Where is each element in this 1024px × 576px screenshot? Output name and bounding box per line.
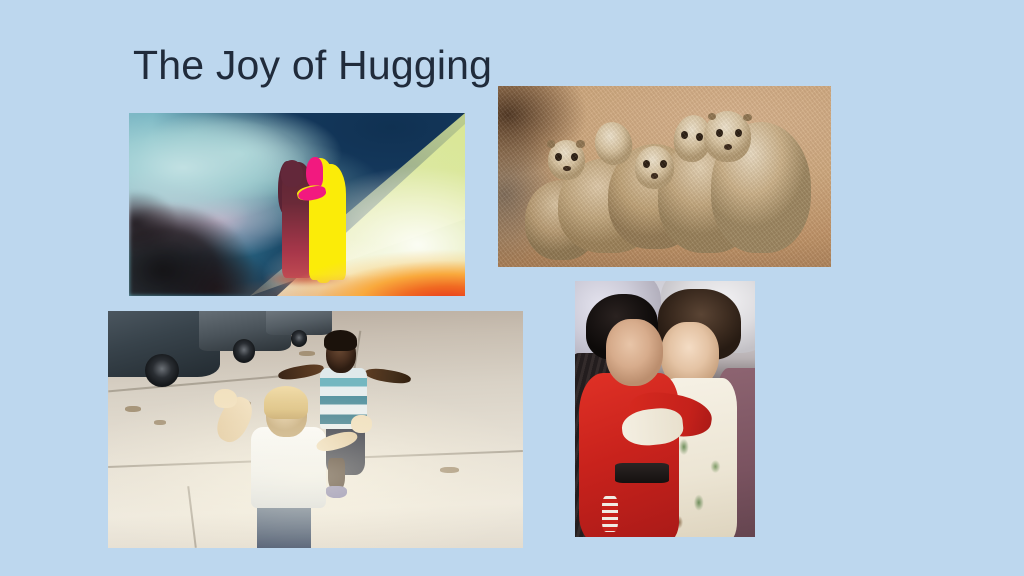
image-toddlers-running-to-hug[interactable] (108, 311, 523, 548)
image-illustration-couple-hugging[interactable] (129, 113, 465, 296)
image-babies-hugging[interactable] (575, 281, 755, 537)
baby-red-face (606, 319, 664, 386)
meerkats-fur-texture (498, 86, 831, 267)
slide-canvas: The Joy of Hugging (0, 0, 1024, 576)
sidewalk-sunlight-layer (108, 311, 523, 548)
illustration-foreground-blur (129, 113, 465, 296)
baby-red-snaps (602, 496, 618, 532)
baby-red-strap (615, 463, 669, 483)
page-title: The Joy of Hugging (133, 44, 492, 87)
image-meerkats-huddling[interactable] (498, 86, 831, 267)
